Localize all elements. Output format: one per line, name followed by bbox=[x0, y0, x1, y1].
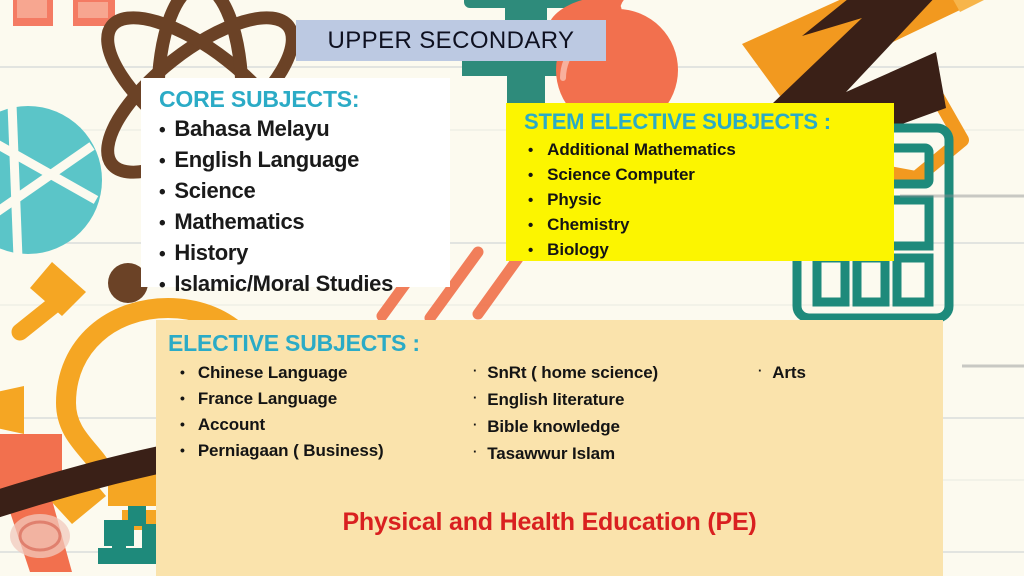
bullet-icon: · bbox=[473, 439, 477, 465]
bullet-icon: • bbox=[159, 178, 165, 207]
list-item: •Chinese Language bbox=[180, 360, 384, 386]
core-subjects-list: •Bahasa Melayu •English Language •Scienc… bbox=[141, 114, 450, 300]
stem-subjects-heading: STEM ELECTIVE SUBJECTS : bbox=[524, 109, 894, 135]
list-item: •Science bbox=[159, 176, 450, 207]
elective-subject-label: English literature bbox=[487, 387, 624, 413]
physical-education-footer: Physical and Health Education (PE) bbox=[156, 508, 943, 537]
bullet-icon: • bbox=[159, 209, 165, 238]
elective-subjects-heading: ELECTIVE SUBJECTS : bbox=[168, 330, 943, 357]
elective-subject-label: France Language bbox=[198, 386, 337, 412]
elective-subject-label: Chinese Language bbox=[198, 360, 348, 386]
elective-subject-label: SnRt ( home science) bbox=[487, 360, 658, 386]
list-item: •Account bbox=[180, 412, 384, 438]
bullet-icon: • bbox=[159, 116, 165, 145]
elective-subjects-card: ELECTIVE SUBJECTS : •Chinese Language •F… bbox=[156, 320, 943, 576]
slide-title-band: UPPER SECONDARY bbox=[296, 20, 606, 61]
bullet-icon: · bbox=[473, 385, 477, 411]
list-item: •Perniagaan ( Business) bbox=[180, 438, 384, 464]
stem-subject-label: Biology bbox=[547, 238, 609, 262]
stem-subjects-list: •Additional Mathematics •Science Compute… bbox=[506, 138, 894, 263]
list-item: ·English literature bbox=[473, 387, 658, 414]
list-item: •Chemistry bbox=[528, 213, 894, 238]
elective-subject-label: Arts bbox=[772, 360, 806, 386]
list-item: ·SnRt ( home science) bbox=[473, 360, 658, 387]
slide-canvas: UPPER SECONDARY CORE SUBJECTS: •Bahasa M… bbox=[0, 0, 1024, 576]
bullet-icon: • bbox=[159, 147, 165, 176]
list-item: •Science Computer bbox=[528, 163, 894, 188]
elective-column-3: ·Arts bbox=[758, 360, 806, 387]
list-item: ·Tasawwur Islam bbox=[473, 441, 658, 468]
core-subject-label: History bbox=[174, 238, 248, 267]
list-item: •Islamic/Moral Studies bbox=[159, 269, 450, 300]
bullet-icon: • bbox=[528, 164, 533, 188]
stem-subject-label: Science Computer bbox=[547, 163, 695, 187]
list-item: •Mathematics bbox=[159, 207, 450, 238]
elective-column-1: •Chinese Language •France Language •Acco… bbox=[180, 360, 384, 464]
core-subject-label: Science bbox=[174, 176, 255, 205]
stem-elective-subjects-card: STEM ELECTIVE SUBJECTS : •Additional Mat… bbox=[506, 103, 894, 261]
bullet-icon: • bbox=[528, 139, 533, 163]
bullet-icon: · bbox=[473, 358, 477, 384]
bullet-icon: • bbox=[159, 240, 165, 269]
bullet-icon: • bbox=[180, 385, 185, 411]
list-item: •Bahasa Melayu bbox=[159, 114, 450, 145]
bullet-icon: • bbox=[159, 271, 165, 300]
list-item: •France Language bbox=[180, 386, 384, 412]
elective-subject-label: Tasawwur Islam bbox=[487, 441, 615, 467]
bullet-icon: · bbox=[758, 358, 762, 384]
list-item: •Biology bbox=[528, 238, 894, 263]
list-item: ·Bible knowledge bbox=[473, 414, 658, 441]
bullet-icon: • bbox=[528, 214, 533, 238]
list-item: •Physic bbox=[528, 188, 894, 213]
core-subject-label: Mathematics bbox=[174, 207, 304, 236]
bullet-icon: · bbox=[473, 412, 477, 438]
elective-subject-label: Perniagaan ( Business) bbox=[198, 438, 384, 464]
bullet-icon: • bbox=[180, 359, 185, 385]
bullet-icon: • bbox=[180, 411, 185, 437]
core-subjects-heading: CORE SUBJECTS: bbox=[159, 86, 450, 113]
bullet-icon: • bbox=[528, 189, 533, 213]
page-title: UPPER SECONDARY bbox=[328, 27, 575, 55]
core-subject-label: Bahasa Melayu bbox=[174, 114, 329, 143]
list-item: •History bbox=[159, 238, 450, 269]
list-item: •English Language bbox=[159, 145, 450, 176]
bullet-icon: • bbox=[180, 437, 185, 463]
core-subject-label: Islamic/Moral Studies bbox=[174, 269, 393, 298]
elective-subject-label: Account bbox=[198, 412, 265, 438]
stem-subject-label: Additional Mathematics bbox=[547, 138, 736, 162]
elective-subject-label: Bible knowledge bbox=[487, 414, 620, 440]
list-item: ·Arts bbox=[758, 360, 806, 387]
elective-column-2: ·SnRt ( home science) ·English literatur… bbox=[473, 360, 658, 468]
stem-subject-label: Chemistry bbox=[547, 213, 629, 237]
bullet-icon: • bbox=[528, 239, 533, 263]
core-subjects-card: CORE SUBJECTS: •Bahasa Melayu •English L… bbox=[141, 78, 450, 287]
list-item: •Additional Mathematics bbox=[528, 138, 894, 163]
elective-columns: •Chinese Language •France Language •Acco… bbox=[156, 360, 943, 482]
core-subject-label: English Language bbox=[174, 145, 359, 174]
stem-subject-label: Physic bbox=[547, 188, 601, 212]
